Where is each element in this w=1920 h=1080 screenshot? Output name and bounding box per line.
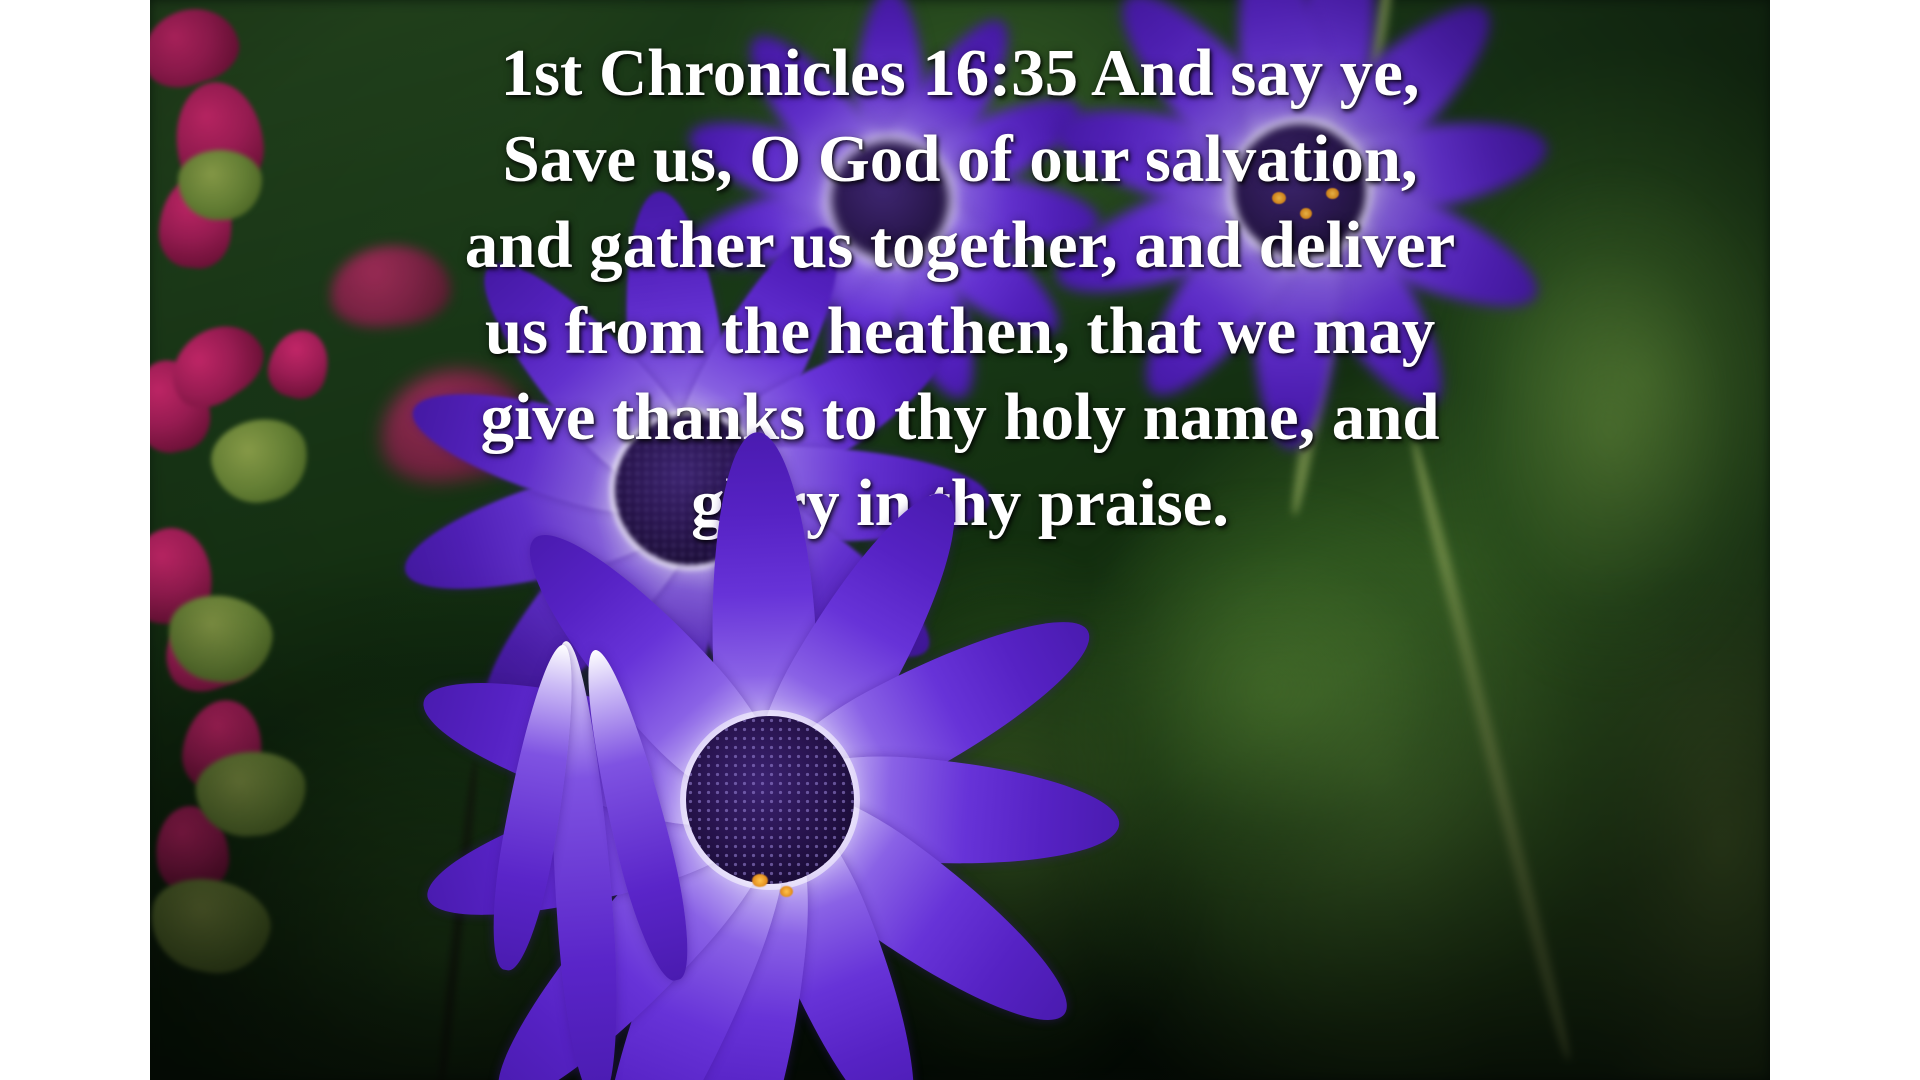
flower-disc	[686, 716, 854, 884]
bud-calyx	[150, 869, 278, 984]
senetti-flower-foreground	[320, 350, 1220, 1080]
slide-canvas: 1st Chronicles 16:35 And say ye, Save us…	[0, 0, 1920, 1080]
